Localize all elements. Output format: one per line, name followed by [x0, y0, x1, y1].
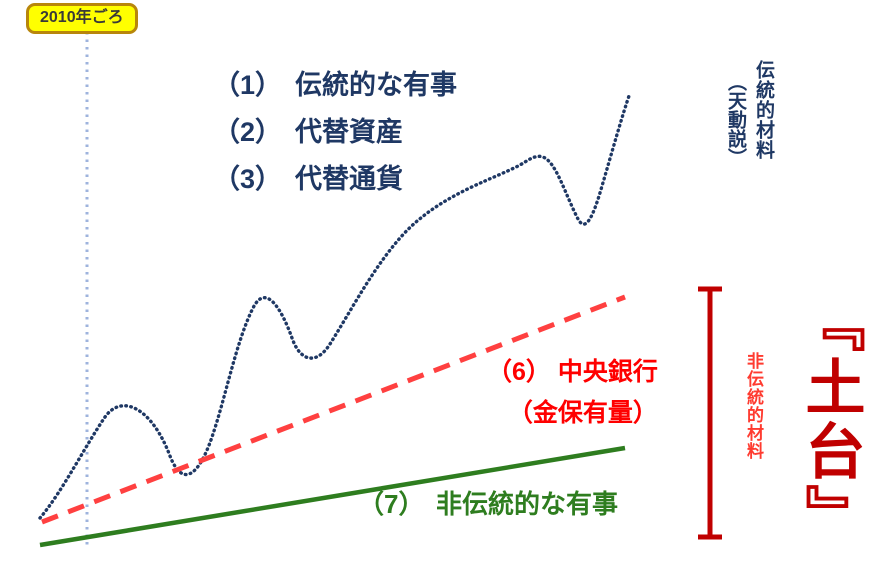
list-item: （3）代替通貨	[213, 156, 457, 203]
central-bank-line-2: （金保有量）	[487, 393, 658, 434]
list-item: （1）伝統的な有事	[213, 62, 457, 109]
item-number: （7）	[358, 490, 436, 520]
foundation-vertical-label: 『土台』	[800, 292, 860, 548]
year-marker-badge: 2010年ごろ	[26, 3, 138, 34]
item-number: （2）	[213, 109, 295, 156]
traditional-material-sub-vertical-label: （天動説）	[726, 72, 745, 167]
item-label: 伝統的な有事	[295, 70, 457, 100]
item-label: 非伝統的な有事	[436, 489, 618, 519]
traditional-material-vertical-label: 伝統的材料	[754, 60, 773, 160]
non-traditional-material-vertical-label: 非伝統的材料	[745, 352, 762, 460]
item-label: 代替通貨	[295, 164, 403, 194]
central-bank-line-1: （6） 中央銀行	[487, 352, 658, 393]
non-traditional-event-annotation: （7）非伝統的な有事	[358, 490, 618, 520]
list-item: （2）代替資産	[213, 109, 457, 156]
item-label: 代替資産	[295, 117, 403, 147]
central-bank-annotation: （6） 中央銀行 （金保有量）	[487, 352, 658, 434]
item-number: （3）	[213, 156, 295, 203]
traditional-items-list: （1）伝統的な有事 （2）代替資産 （3）代替通貨	[213, 62, 457, 203]
diagram-canvas: 2010年ごろ （1）伝統的な有事 （2）代替資産 （3）代替通貨 （6） 中央…	[0, 0, 873, 570]
non-traditional-range-bracket	[698, 288, 722, 538]
item-number: （1）	[213, 62, 295, 109]
